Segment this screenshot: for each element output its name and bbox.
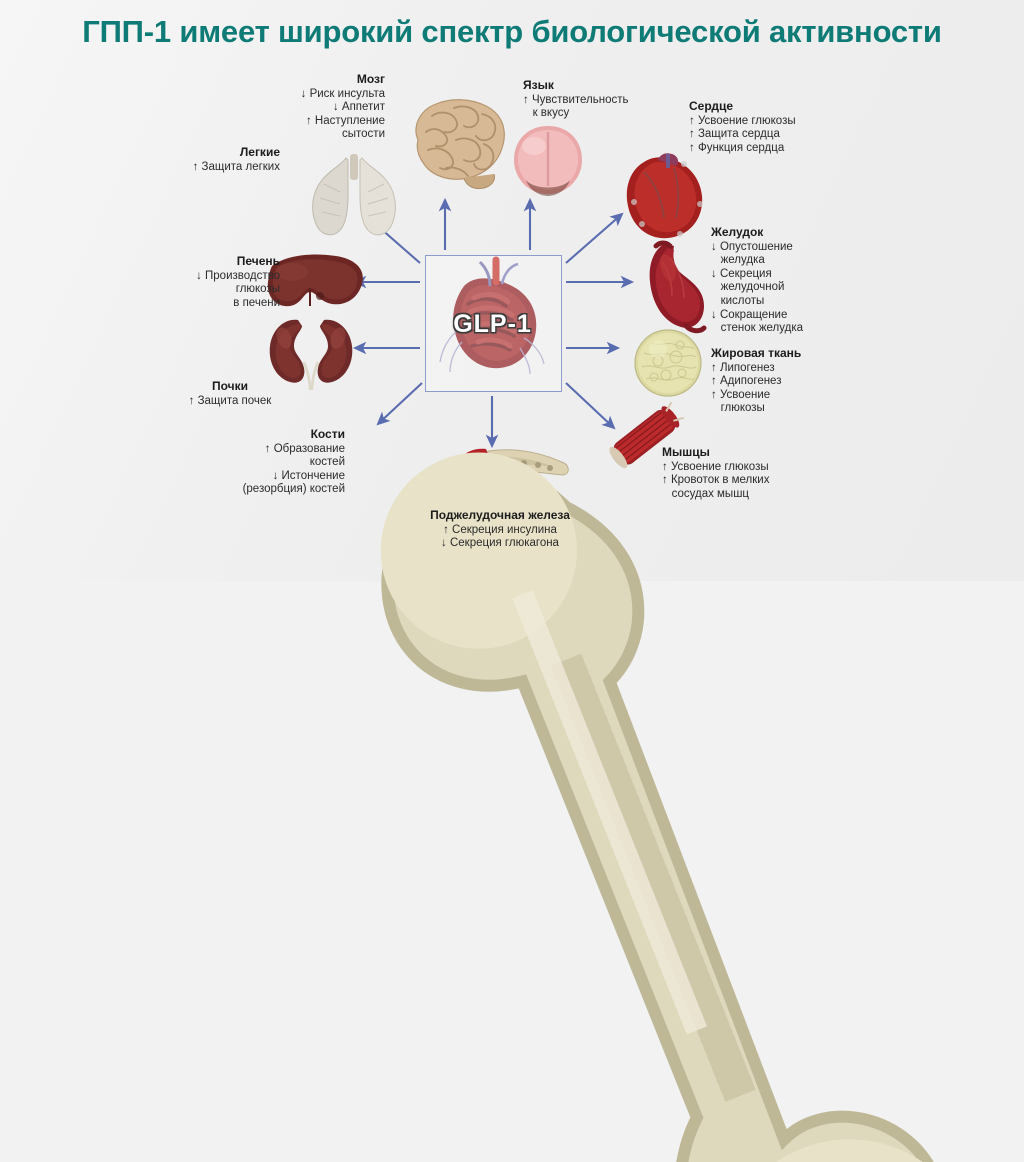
organ-effect-stomach-0: ↓ Опустошение [711, 241, 881, 255]
organ-effect-heart-2: ↑ Функция сердца [689, 142, 869, 156]
label-block-bone: Кости ↑ Образование костей ↓ Истончение … [185, 428, 345, 497]
label-block-tongue: Язык ↑ Чувствительность к вкусу [523, 79, 693, 121]
organ-effect-brain-1: ↓ Аппетит [225, 101, 385, 115]
organ-effect-pancreas-1: ↓ Секреция глюкагона [380, 537, 620, 551]
organ-effect-adipose-2: ↑ Усвоение [711, 389, 881, 403]
organ-effect-brain-2: ↑ Наступление [225, 115, 385, 129]
label-block-adipose: Жировая ткань ↑ Липогенез ↑ Адипогенез ↑… [711, 347, 881, 416]
organ-effect-stomach-4: кислоты [711, 295, 881, 309]
label-block-stomach: Желудок ↓ Опустошение желудка ↓ Секреция… [711, 226, 881, 336]
adipose-tissue-icon [632, 327, 704, 399]
organ-name-adipose: Жировая ткань [711, 347, 881, 361]
organ-effect-adipose-3: глюкозы [711, 402, 881, 416]
lungs-organ-icon [300, 150, 410, 245]
organ-effect-lungs-0: ↑ Защита легких [120, 161, 280, 175]
organ-name-kidneys: Почки [155, 380, 305, 394]
organ-effect-bone-3: (резорбция) костей [185, 483, 345, 497]
organ-name-lungs: Легкие [120, 146, 280, 160]
organ-name-pancreas: Поджелудочная железа [380, 509, 620, 523]
organ-effect-stomach-5: ↓ Сокращение [711, 309, 881, 323]
organ-effect-heart-1: ↑ Защита сердца [689, 128, 869, 142]
organ-effect-liver-1: глюкозы [130, 283, 280, 297]
organ-effect-tongue-1: к вкусу [523, 107, 693, 121]
organ-effect-stomach-2: ↓ Секреция [711, 268, 881, 282]
stomach-organ-icon [634, 238, 716, 336]
slide-canvas: ГПП-1 имеет широкий спектр биологической… [0, 0, 1024, 581]
organ-effect-brain-0: ↓ Риск инсульта [225, 88, 385, 102]
label-block-heart: Сердце ↑ Усвоение глюкозы ↑ Защита сердц… [689, 100, 869, 155]
label-block-brain: Мозг ↓ Риск инсульта ↓ Аппетит ↑ Наступл… [225, 73, 385, 142]
organ-effect-adipose-1: ↑ Адипогенез [711, 375, 881, 389]
label-block-muscle: Мышцы ↑ Усвоение глюкозы ↑ Кровоток в ме… [662, 446, 842, 501]
label-block-lungs: Легкие ↑ Защита легких [120, 146, 280, 174]
organ-effect-adipose-0: ↑ Липогенез [711, 362, 881, 376]
organ-effect-liver-2: в печени [130, 297, 280, 311]
organ-effect-muscle-0: ↑ Усвоение глюкозы [662, 461, 842, 475]
organ-effect-brain-3: сытости [225, 128, 385, 142]
organ-effect-stomach-6: стенок желудка [711, 322, 881, 336]
glp1-label: GLP-1 [425, 310, 560, 339]
organ-name-heart: Сердце [689, 100, 869, 114]
brain-organ-icon [398, 92, 518, 197]
heart-organ-icon [614, 148, 714, 248]
organ-effect-muscle-1: ↑ Кровоток в мелких [662, 474, 842, 488]
organ-effect-kidneys-0: ↑ Защита почек [155, 395, 305, 409]
organ-effect-bone-0: ↑ Образование [185, 443, 345, 457]
organ-name-brain: Мозг [225, 73, 385, 87]
organ-effect-heart-0: ↑ Усвоение глюкозы [689, 115, 869, 129]
organ-name-muscle: Мышцы [662, 446, 842, 460]
label-block-liver: Печень ↓ Производство глюкозы в печени [130, 255, 280, 310]
organ-effect-stomach-3: желудочной [711, 281, 881, 295]
organ-name-tongue: Язык [523, 79, 693, 93]
organ-effect-pancreas-0: ↑ Секреция инсулина [380, 524, 620, 538]
organ-effect-bone-2: ↓ Истончение [185, 470, 345, 484]
tongue-organ-icon [508, 120, 588, 208]
organ-effect-bone-1: костей [185, 456, 345, 470]
organ-name-stomach: Желудок [711, 226, 881, 240]
kidneys-organ-icon [258, 312, 364, 390]
label-block-kidneys: Почки ↑ Защита почек [155, 380, 305, 408]
organ-effect-tongue-0: ↑ Чувствительность [523, 94, 693, 108]
organ-name-liver: Печень [130, 255, 280, 269]
organ-name-bone: Кости [185, 428, 345, 442]
organ-effect-liver-0: ↓ Производство [130, 270, 280, 284]
organ-effect-muscle-2: сосудах мышц [662, 488, 842, 502]
organ-effect-stomach-1: желудка [711, 254, 881, 268]
label-block-pancreas: Поджелудочная железа ↑ Секреция инсулина… [380, 509, 620, 551]
